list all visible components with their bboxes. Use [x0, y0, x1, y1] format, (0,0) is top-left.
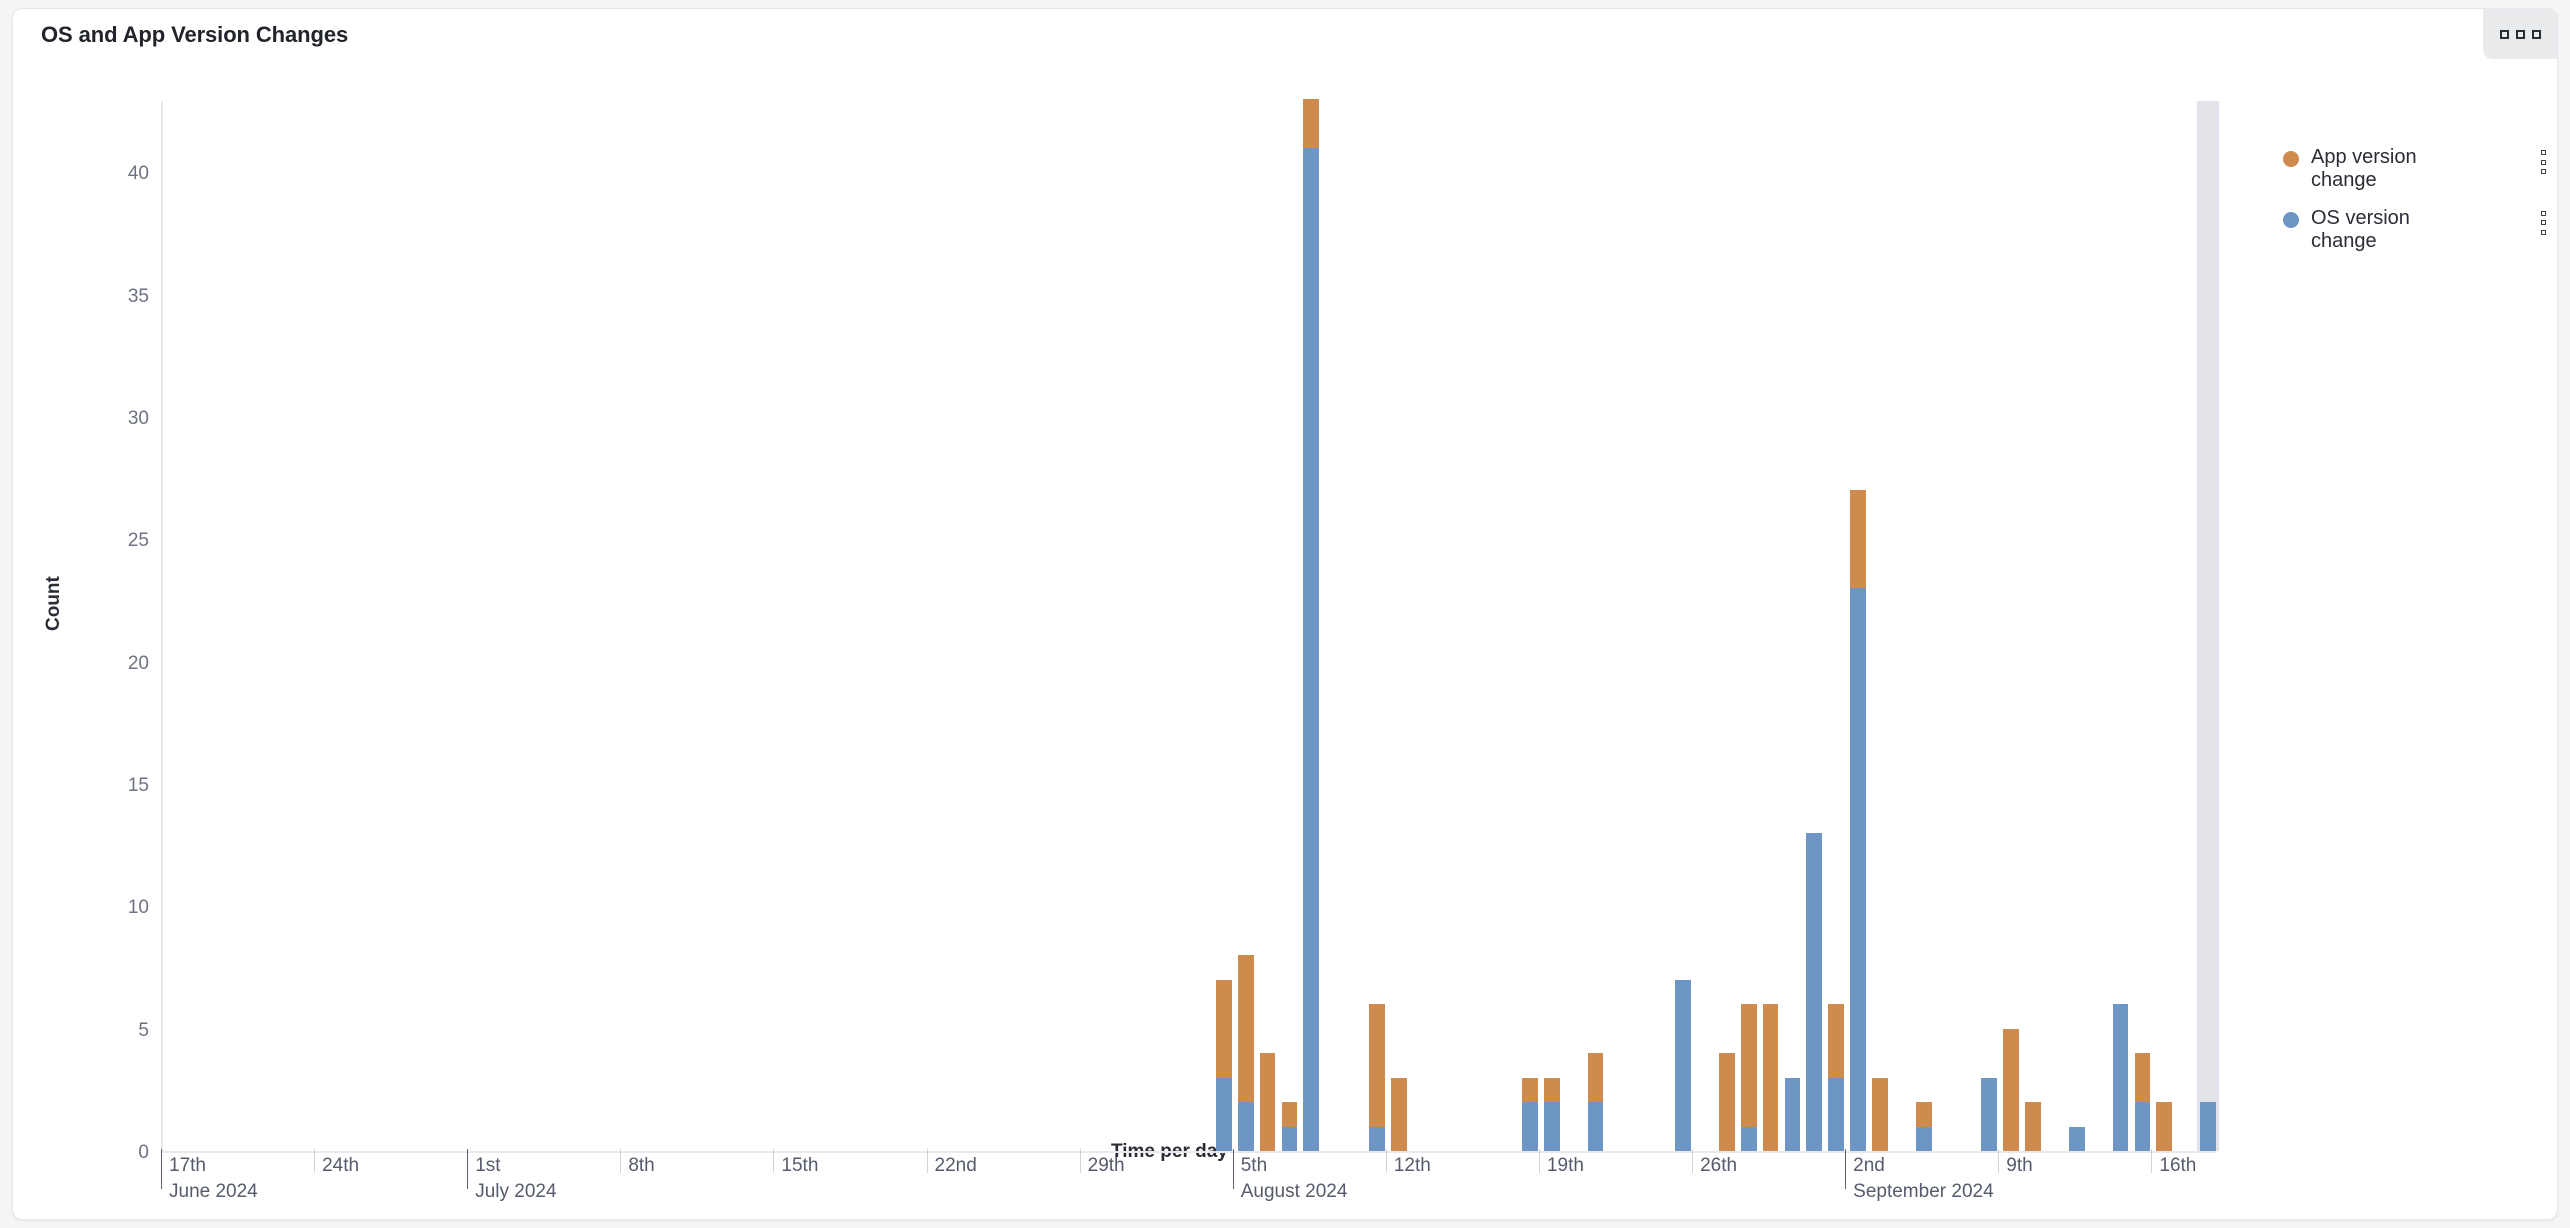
x-axis-tick-label: 2nd: [1853, 1155, 1885, 1177]
x-axis-tick-label: 26th: [1700, 1155, 1737, 1177]
x-axis-tick-label: 5th: [1241, 1155, 1267, 1177]
stacked-bar[interactable]: [1369, 1004, 1385, 1151]
y-axis-tick-label: 5: [138, 1020, 149, 1042]
x-axis-tick-label: 9th: [2006, 1155, 2032, 1177]
bar-segment-app-version-change[interactable]: [1391, 1078, 1407, 1151]
stacked-bar[interactable]: [2135, 1053, 2151, 1151]
bar-segment-os-version-change[interactable]: [1916, 1127, 1932, 1151]
bar-segment-os-version-change[interactable]: [1544, 1102, 1560, 1151]
bar-segment-os-version-change[interactable]: [1806, 833, 1822, 1151]
stacked-bar[interactable]: [1828, 1004, 1844, 1151]
legend-item-label: OS version change: [2311, 207, 2461, 254]
legend-color-dot: [2283, 212, 2299, 228]
bar-segment-os-version-change[interactable]: [2135, 1102, 2151, 1151]
bar-segment-os-version-change[interactable]: [1282, 1127, 1298, 1151]
stacked-bar[interactable]: [1303, 99, 1319, 1151]
bar-segment-app-version-change[interactable]: [2025, 1102, 2041, 1151]
x-tick-line: [1539, 1149, 1540, 1173]
legend: App version change OS version change: [2283, 146, 2553, 268]
chart-area: Count Time per day 0510152025303540 17th…: [13, 61, 2558, 1220]
y-axis-tick-label: 0: [138, 1142, 149, 1164]
y-axis-tick-label: 30: [128, 408, 149, 430]
legend-item-menu-icon[interactable]: [2535, 211, 2551, 235]
legend-item-label: App version change: [2311, 146, 2461, 193]
x-tick-line: [773, 1149, 774, 1173]
x-axis-tick-label: 22nd: [935, 1155, 977, 1177]
stacked-bar[interactable]: [1675, 980, 1691, 1151]
stacked-bar[interactable]: [1785, 1078, 1801, 1151]
bar-segment-os-version-change[interactable]: [2069, 1127, 2085, 1151]
bar-segment-os-version-change[interactable]: [2113, 1004, 2129, 1151]
stacked-bar[interactable]: [1916, 1102, 1932, 1151]
legend-color-dot: [2283, 151, 2299, 167]
x-axis-month-label: August 2024: [1241, 1181, 1348, 1203]
bar-segment-app-version-change[interactable]: [1828, 1004, 1844, 1077]
bar-segment-app-version-change[interactable]: [2003, 1029, 2019, 1151]
stacked-bar[interactable]: [1282, 1102, 1298, 1151]
stacked-bar[interactable]: [2025, 1102, 2041, 1151]
y-axis-tick-label: 10: [128, 897, 149, 919]
y-axis-tick-label: 15: [128, 775, 149, 797]
x-axis-month-label: June 2024: [169, 1181, 258, 1203]
x-axis-tick-label: 17th: [169, 1155, 206, 1177]
x-tick-line: [620, 1149, 621, 1173]
stacked-bar[interactable]: [2069, 1127, 2085, 1151]
stacked-bar[interactable]: [1260, 1053, 1276, 1151]
chart-panel: OS and App Version Changes Count Time pe…: [12, 8, 2558, 1220]
y-axis-tick-label: 40: [128, 163, 149, 185]
bar-series-container: [163, 101, 2217, 1151]
x-tick-line: [927, 1149, 928, 1173]
bar-segment-os-version-change[interactable]: [1216, 1078, 1232, 1151]
bar-segment-os-version-change[interactable]: [1522, 1102, 1538, 1151]
x-tick-line: [1845, 1149, 1846, 1189]
x-tick-line: [161, 1149, 162, 1189]
stacked-bar[interactable]: [2113, 1004, 2129, 1151]
bar-segment-os-version-change[interactable]: [2200, 1102, 2216, 1151]
legend-item-os-version-change[interactable]: OS version change: [2283, 207, 2553, 254]
x-tick-line: [1233, 1149, 1234, 1189]
legend-item-app-version-change[interactable]: App version change: [2283, 146, 2553, 193]
x-axis-month-label: July 2024: [475, 1181, 556, 1203]
legend-item-menu-icon[interactable]: [2535, 150, 2551, 174]
x-axis-tick-label: 8th: [628, 1155, 654, 1177]
x-tick-line: [1692, 1149, 1693, 1173]
panel-menu-button[interactable]: [2483, 9, 2557, 59]
bar-segment-os-version-change[interactable]: [1785, 1078, 1801, 1151]
bar-segment-app-version-change[interactable]: [1260, 1053, 1276, 1151]
stacked-bar[interactable]: [1216, 980, 1232, 1151]
x-tick-line: [1386, 1149, 1387, 1173]
bar-segment-app-version-change[interactable]: [1522, 1078, 1538, 1102]
stacked-bar[interactable]: [1391, 1078, 1407, 1151]
bar-segment-os-version-change[interactable]: [1828, 1078, 1844, 1151]
stacked-bar[interactable]: [2200, 1102, 2216, 1151]
x-tick-line: [2151, 1149, 2152, 1173]
stacked-bar[interactable]: [1544, 1078, 1560, 1151]
three-squares-icon: [2500, 30, 2509, 39]
plot-region: 0510152025303540: [161, 101, 2217, 1153]
stacked-bar[interactable]: [1741, 1004, 1757, 1151]
bar-segment-os-version-change[interactable]: [1369, 1127, 1385, 1151]
stacked-bar[interactable]: [1806, 833, 1822, 1151]
bar-segment-app-version-change[interactable]: [1369, 1004, 1385, 1126]
stacked-bar[interactable]: [1872, 1078, 1888, 1151]
y-axis-tick-label: 35: [128, 286, 149, 308]
x-tick-line: [1080, 1149, 1081, 1173]
bar-segment-app-version-change[interactable]: [1282, 1102, 1298, 1126]
y-axis-title: Count: [43, 576, 65, 631]
stacked-bar[interactable]: [2003, 1029, 2019, 1151]
bar-segment-app-version-change[interactable]: [1763, 1004, 1779, 1151]
bar-segment-os-version-change[interactable]: [1850, 588, 1866, 1151]
x-axis-tick-label: 19th: [1547, 1155, 1584, 1177]
bar-segment-os-version-change[interactable]: [1741, 1127, 1757, 1151]
stacked-bar[interactable]: [1981, 1078, 1997, 1151]
x-tick-line: [314, 1149, 315, 1173]
x-tick-line: [467, 1149, 468, 1189]
three-squares-icon: [2532, 30, 2541, 39]
bar-segment-app-version-change[interactable]: [2156, 1102, 2172, 1151]
bar-segment-app-version-change[interactable]: [1719, 1053, 1735, 1151]
bar-segment-app-version-change[interactable]: [2135, 1053, 2151, 1102]
x-axis-tick-label: 29th: [1088, 1155, 1125, 1177]
three-squares-icon: [2516, 30, 2525, 39]
bar-segment-os-version-change[interactable]: [1303, 148, 1319, 1151]
bar-segment-os-version-change[interactable]: [1981, 1078, 1997, 1151]
stacked-bar[interactable]: [1719, 1053, 1735, 1151]
bar-segment-os-version-change[interactable]: [1238, 1102, 1254, 1151]
bar-segment-app-version-change[interactable]: [1588, 1053, 1604, 1102]
stacked-bar[interactable]: [1763, 1004, 1779, 1151]
y-axis-tick-label: 25: [128, 530, 149, 552]
page-title: OS and App Version Changes: [41, 22, 348, 48]
x-axis-tick-label: 24th: [322, 1155, 359, 1177]
bar-segment-os-version-change[interactable]: [1675, 980, 1691, 1151]
stacked-bar[interactable]: [1238, 955, 1254, 1151]
stacked-bar[interactable]: [1850, 490, 1866, 1151]
bar-segment-app-version-change[interactable]: [1850, 490, 1866, 588]
x-axis-tick-label: 16th: [2159, 1155, 2196, 1177]
y-axis-tick-label: 20: [128, 653, 149, 675]
bar-segment-app-version-change[interactable]: [1916, 1102, 1932, 1126]
stacked-bar[interactable]: [2156, 1102, 2172, 1151]
partial-interval-band: [2197, 101, 2219, 1151]
x-axis-tick-label: 15th: [781, 1155, 818, 1177]
bar-segment-app-version-change[interactable]: [1216, 980, 1232, 1078]
x-axis-tick-label: 1st: [475, 1155, 500, 1177]
bar-segment-app-version-change[interactable]: [1303, 99, 1319, 148]
bar-segment-os-version-change[interactable]: [1588, 1102, 1604, 1151]
x-axis-month-label: September 2024: [1853, 1181, 1994, 1203]
panel-header: OS and App Version Changes: [13, 9, 2557, 61]
x-tick-line: [1998, 1149, 1999, 1173]
stacked-bar[interactable]: [1588, 1053, 1604, 1151]
bar-segment-app-version-change[interactable]: [1238, 955, 1254, 1102]
stacked-bar[interactable]: [1522, 1078, 1538, 1151]
bar-segment-app-version-change[interactable]: [1872, 1078, 1888, 1151]
x-axis-ticks: 17thJune 202424th1stJuly 20248th15th22nd…: [161, 1153, 2217, 1220]
x-axis-tick-label: 12th: [1394, 1155, 1431, 1177]
bar-segment-app-version-change[interactable]: [1741, 1004, 1757, 1126]
bar-segment-app-version-change[interactable]: [1544, 1078, 1560, 1102]
